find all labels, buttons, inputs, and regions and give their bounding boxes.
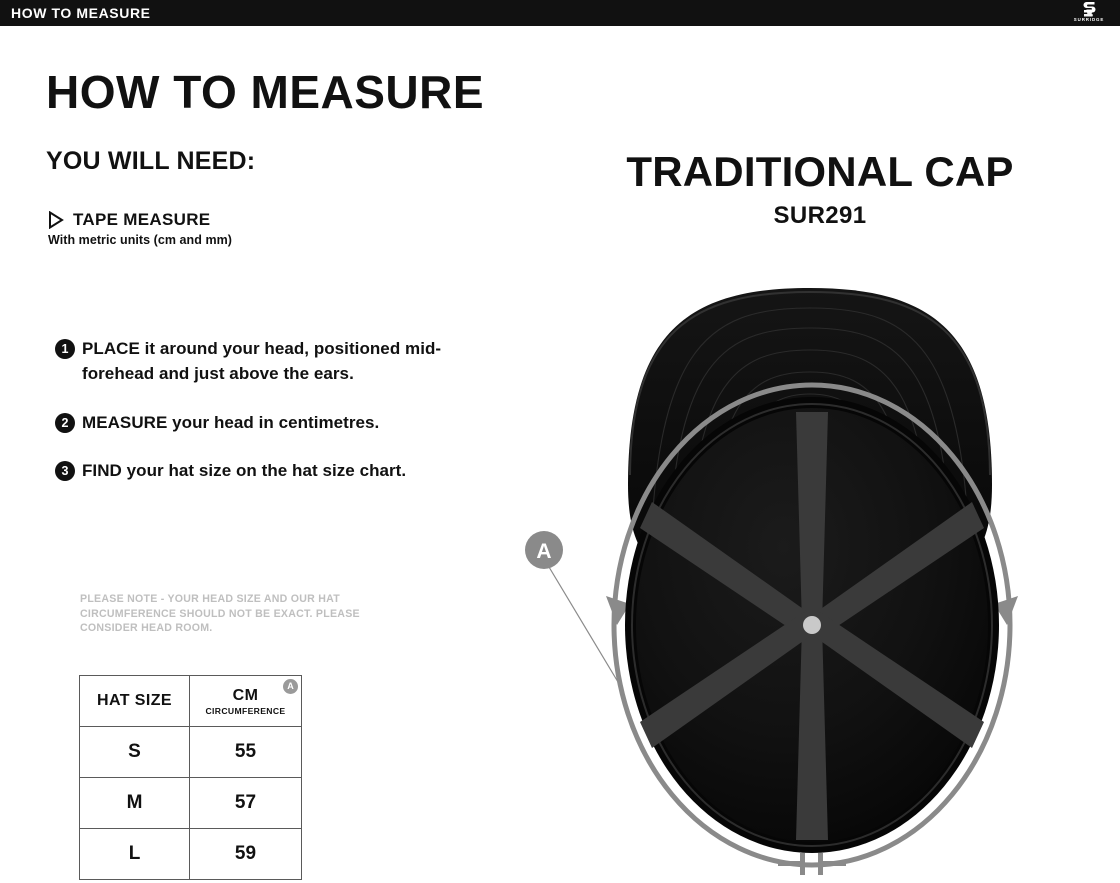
disclaimer-note: PLEASE NOTE - YOUR HEAD SIZE AND OUR HAT…: [80, 592, 410, 636]
table-header-row: HAT SIZE CM CIRCUMFERENCE A: [80, 676, 302, 727]
cell-hat-size: L: [80, 829, 190, 880]
tool-label: TAPE MEASURE: [73, 210, 210, 230]
measure-steps-list: 1 PLACE it around your head, positioned …: [55, 337, 455, 484]
cell-cm: 57: [190, 778, 302, 829]
column-header-sublabel: CIRCUMFERENCE: [190, 706, 301, 716]
step-text: PLACE it around your head, positioned mi…: [82, 337, 455, 387]
top-banner: HOW TO MEASURE SURRIDGE: [0, 0, 1120, 26]
step-text: FIND your hat size on the hat size chart…: [82, 459, 406, 484]
crown-centre-button: [803, 616, 821, 634]
page-title: HOW TO MEASURE: [46, 66, 484, 118]
cell-hat-size: S: [80, 727, 190, 778]
callout-a: A: [525, 531, 618, 682]
cell-cm: 59: [190, 829, 302, 880]
table-row: M 57: [80, 778, 302, 829]
triangle-bullet-icon: [48, 211, 64, 229]
list-item: 2 MEASURE your head in centimetres.: [55, 411, 455, 436]
step-text: MEASURE your head in centimetres.: [82, 411, 379, 436]
brand-wordmark: SURRIDGE: [1074, 17, 1104, 23]
surridge-s-logo-icon: [1083, 1, 1096, 17]
step-number-badge: 2: [55, 413, 75, 433]
table-row: L 59: [80, 829, 302, 880]
product-code: SUR291: [560, 202, 1080, 230]
brand-logo: SURRIDGE: [1067, 1, 1111, 25]
callout-leader-line: [546, 562, 618, 682]
table-row: S 55: [80, 727, 302, 778]
tool-sublabel: With metric units (cm and mm): [48, 233, 468, 247]
step-number-badge: 3: [55, 461, 75, 481]
you-will-need-heading: YOU WILL NEED:: [46, 147, 255, 176]
list-item: 3 FIND your hat size on the hat size cha…: [55, 459, 455, 484]
cell-cm: 55: [190, 727, 302, 778]
top-banner-title: HOW TO MEASURE: [11, 5, 151, 21]
column-header-cm-circumference: CM CIRCUMFERENCE A: [190, 676, 302, 727]
hat-size-chart: HAT SIZE CM CIRCUMFERENCE A S 55 M 57 L …: [79, 675, 302, 880]
step-number-badge: 1: [55, 339, 75, 359]
column-header-hat-size: HAT SIZE: [80, 676, 190, 727]
callout-badge-letter: A: [536, 540, 551, 563]
list-item: 1 PLACE it around your head, positioned …: [55, 337, 455, 387]
cap-crown: [625, 397, 999, 853]
cell-hat-size: M: [80, 778, 190, 829]
tool-requirement: TAPE MEASURE With metric units (cm and m…: [48, 210, 468, 247]
cap-top-view-diagram: A: [500, 270, 1120, 883]
column-header-label: HAT SIZE: [80, 692, 189, 710]
product-title: TRADITIONAL CAP: [560, 148, 1080, 196]
measure-reference-badge-a: A: [283, 679, 298, 694]
